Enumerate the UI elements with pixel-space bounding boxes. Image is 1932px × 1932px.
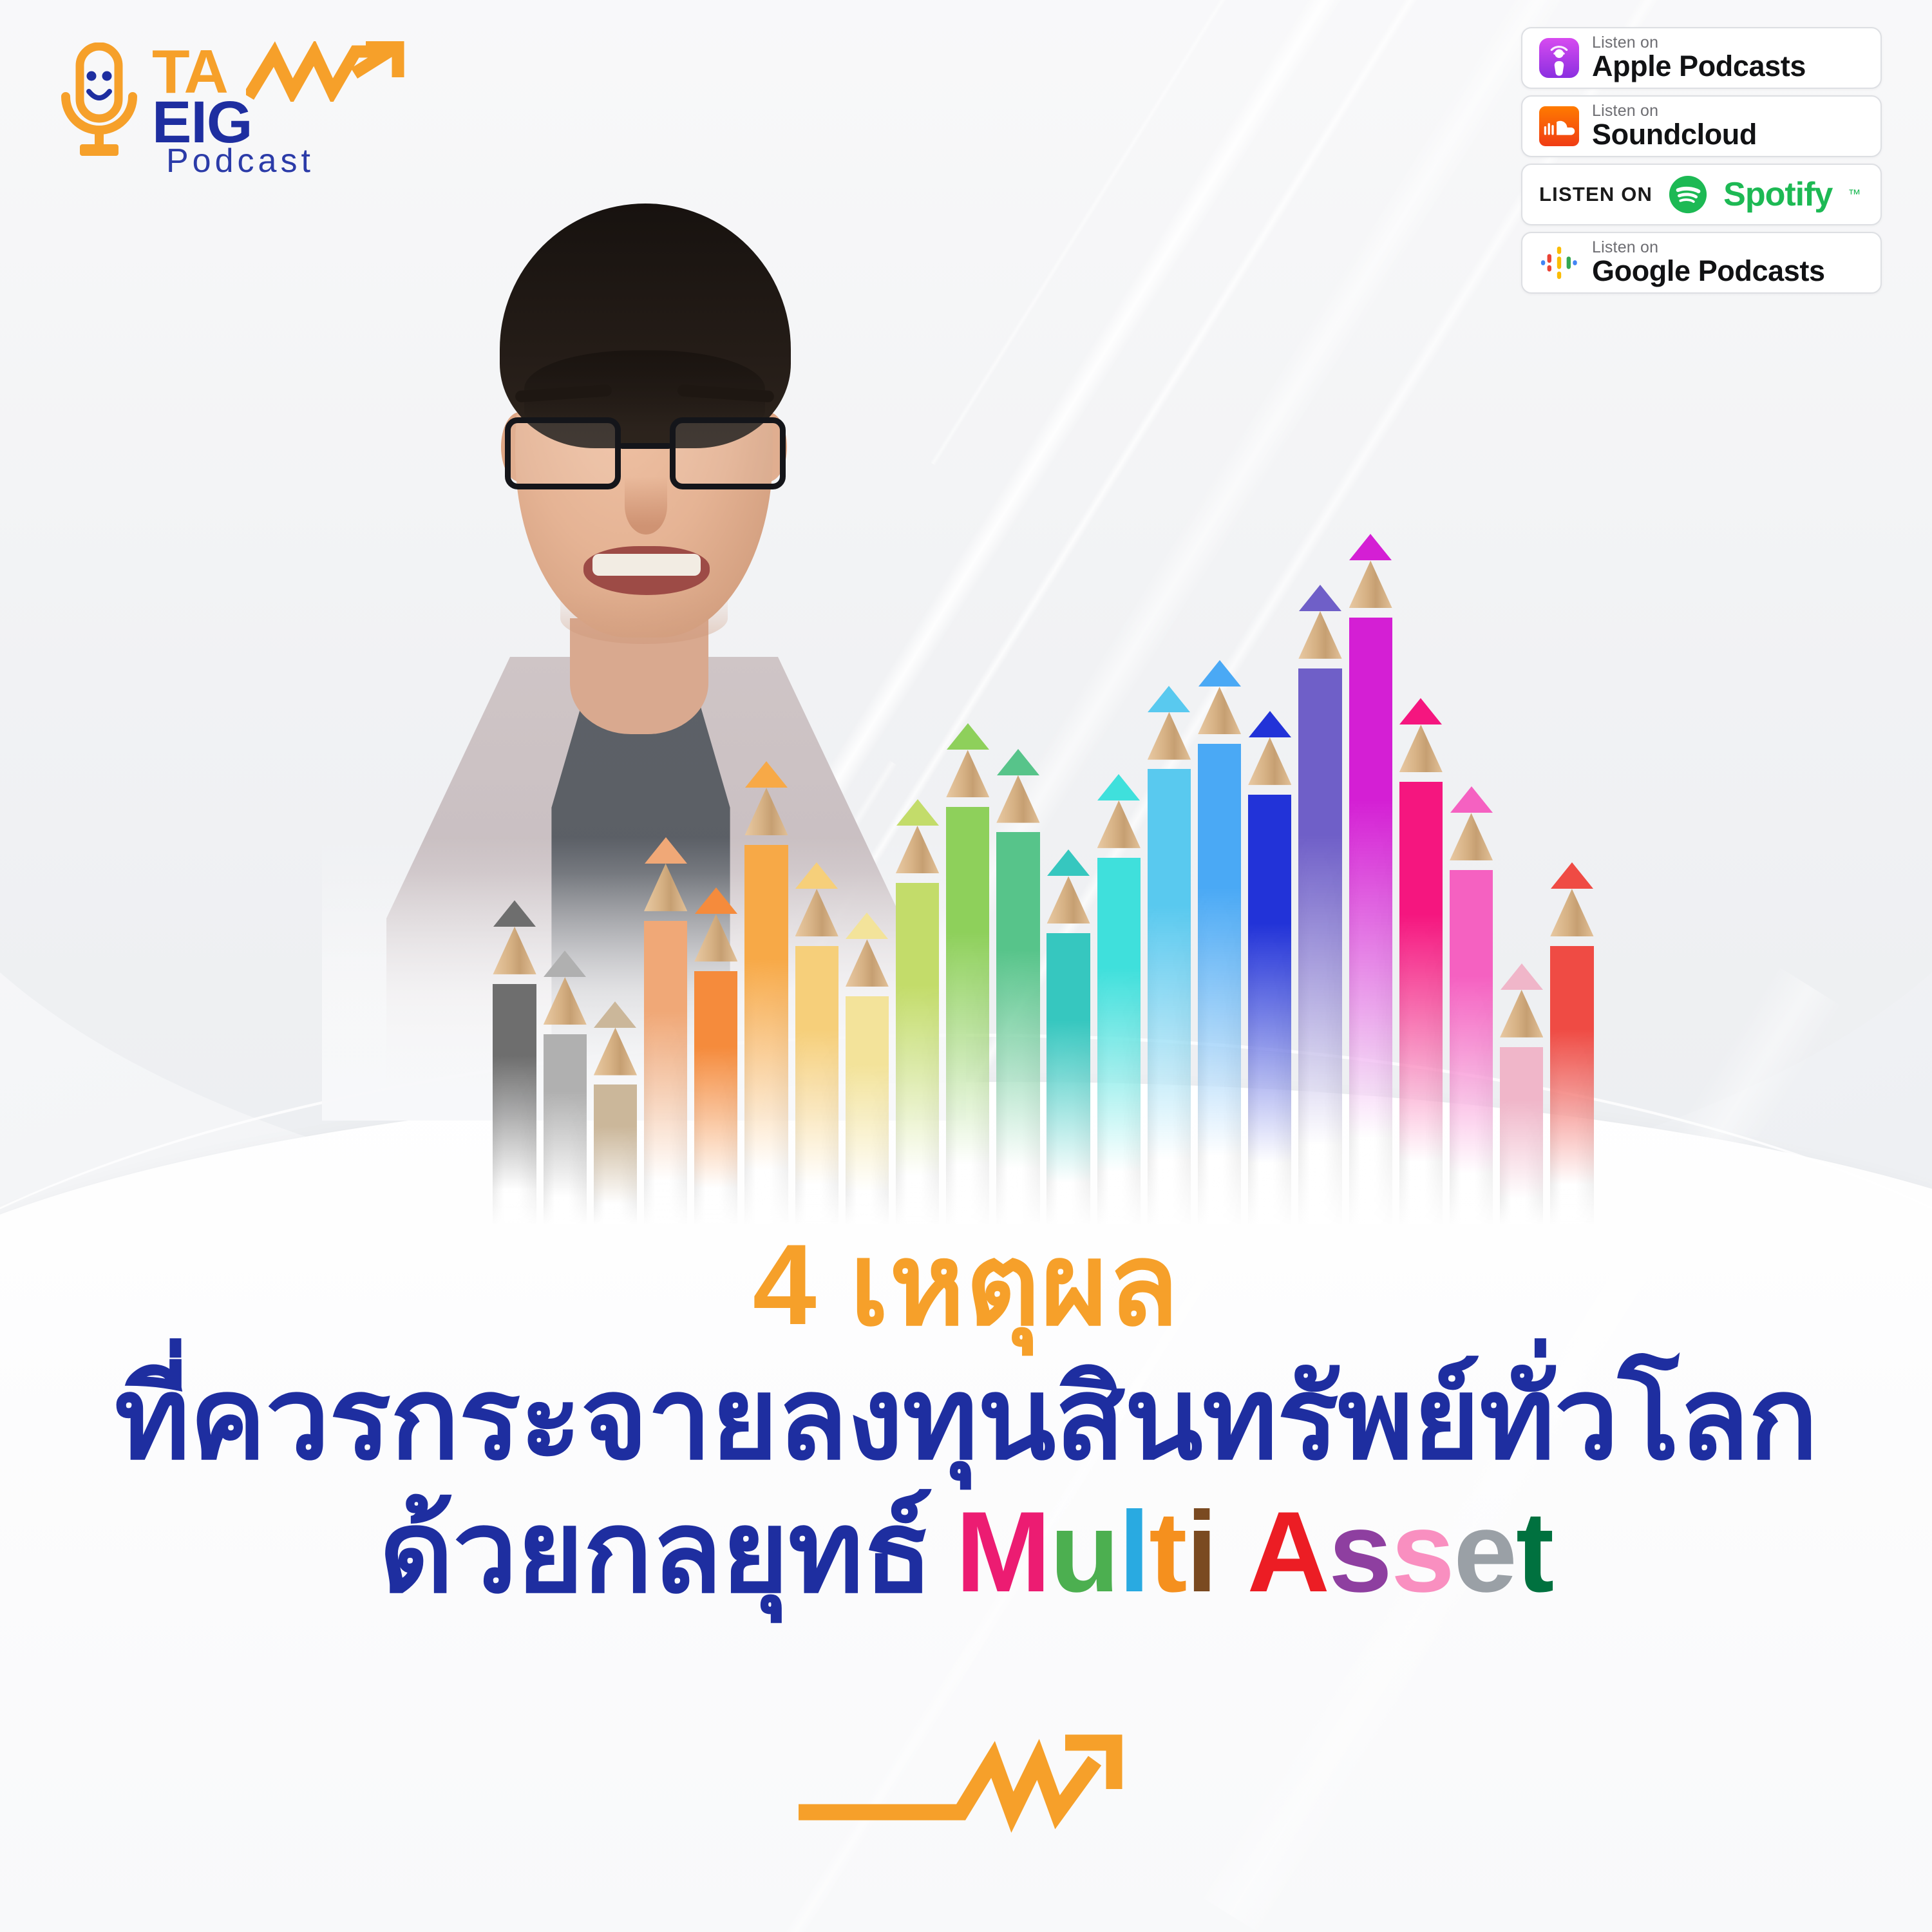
badge-spotify-big: Spotify [1723, 175, 1832, 214]
pencil-body [1450, 870, 1493, 1224]
pencil-bar [1349, 534, 1392, 1224]
pencil-tip [493, 900, 536, 927]
pencil-wood [1399, 724, 1443, 772]
pencil-body [594, 1084, 637, 1224]
pencil-bar [1046, 849, 1090, 1224]
pencil-bar [1148, 686, 1191, 1224]
headline-line-1: 4 เหตุผล [0, 1217, 1932, 1352]
pencil-body [846, 996, 889, 1224]
pencil-body [946, 807, 989, 1224]
pencil-tip [1551, 862, 1593, 889]
pencil-wood [946, 750, 989, 797]
pencil-body [694, 971, 737, 1224]
pencil-bar [544, 951, 587, 1224]
pencil-wood [493, 927, 536, 974]
multi-asset-letter-3: t [1149, 1488, 1186, 1616]
pencil-tip [1450, 786, 1493, 813]
pencil-bar [795, 862, 838, 1224]
pencil-tip [594, 1001, 636, 1028]
spotify-icon [1668, 175, 1708, 214]
badge-google-text: Listen on Google Podcasts [1592, 240, 1825, 285]
pencil-body [1097, 858, 1141, 1224]
pencil-wood [1046, 876, 1090, 923]
pencil-wood [1550, 889, 1593, 936]
pencil-wood [1349, 560, 1392, 608]
badge-apple-podcasts[interactable]: Listen on Apple Podcasts [1521, 27, 1882, 89]
pencil-body [544, 1034, 587, 1224]
pencil-collar [1198, 734, 1241, 744]
pencil-bar [1298, 585, 1341, 1224]
pencil-tip [1249, 711, 1291, 737]
listen-on-badges: Listen on Apple Podcasts Listen on Sound… [1521, 27, 1882, 294]
headline-line-3-thai: ด้วยกลยุทธ์ [379, 1486, 933, 1618]
pencil-bar [1097, 774, 1141, 1224]
pencil-wood [594, 1028, 637, 1075]
pencil-collar [594, 1075, 637, 1085]
pencil-collar [896, 873, 939, 883]
pencil-collar [1046, 923, 1090, 933]
headline-line-3: ด้วยกลยุทธ์ Multi Asset [0, 1486, 1932, 1618]
pencil-body [795, 946, 838, 1224]
pencil-tip [1097, 774, 1140, 800]
pencil-wood [644, 864, 687, 911]
smiling-microphone-icon [57, 43, 142, 160]
pencil-tip [1299, 585, 1341, 611]
pencil-body [1046, 933, 1090, 1224]
pencil-tip [645, 837, 687, 864]
pencil-bar [1450, 786, 1493, 1224]
pencil-collar [795, 936, 838, 946]
multi-asset-letter-5 [1217, 1488, 1247, 1616]
pencil-body [1399, 782, 1443, 1224]
logo-wordmark: TA EIG Podcast [152, 37, 410, 166]
pencil-collar [946, 797, 989, 807]
pencil-collar [744, 835, 788, 845]
multi-asset-letter-7: s [1329, 1488, 1391, 1616]
pencil-collar [1450, 860, 1493, 870]
pencil-wood [1097, 800, 1141, 848]
pencil-bar [996, 749, 1039, 1224]
multi-asset-letter-0: M [956, 1488, 1050, 1616]
brand-logo[interactable]: TA EIG Podcast [57, 37, 417, 166]
pencil-wood [694, 914, 737, 961]
headline-block: 4 เหตุผล ที่ควรกระจายลงทุนสินทรัพย์ทั่วโ… [0, 1217, 1932, 1618]
pencil-tip [896, 799, 939, 826]
pencil-body [644, 921, 687, 1224]
pencil-tip [1501, 963, 1543, 990]
pencil-wood [1500, 990, 1543, 1037]
pencil-bar [493, 900, 536, 1224]
pencil-tip [544, 951, 586, 977]
multi-asset-letter-8: s [1391, 1488, 1454, 1616]
pencil-body [1298, 668, 1341, 1224]
pencil-tip [1198, 660, 1241, 687]
pencil-bar [946, 723, 989, 1224]
pencil-bar [694, 887, 737, 1224]
zigzag-growth-arrow-icon [246, 41, 408, 102]
badge-google-big: Google Podcasts [1592, 256, 1825, 286]
pencil-tip [695, 887, 737, 914]
footer-zigzag-growth-arrow-icon [792, 1732, 1140, 1842]
pencil-collar [493, 974, 536, 984]
pencil-wood [1198, 687, 1241, 734]
badge-apple-text: Listen on Apple Podcasts [1592, 35, 1806, 80]
pencil-wood [1248, 737, 1291, 785]
google-podcasts-icon [1539, 243, 1579, 283]
multi-asset-letter-10: t [1516, 1488, 1553, 1616]
badge-soundcloud-big: Soundcloud [1592, 120, 1757, 149]
pencil-wood [1298, 611, 1341, 659]
pencil-tip [947, 723, 989, 750]
pencil-bar [1248, 711, 1291, 1224]
pencil-tip [795, 862, 838, 889]
pencil-tip [846, 913, 888, 939]
pencil-collar [644, 911, 687, 921]
pencil-wood [744, 788, 788, 835]
pencil-body [744, 845, 788, 1224]
pencil-collar [1148, 760, 1191, 770]
podcast-cover-canvas: TA EIG Podcast Listen o [0, 0, 1932, 1932]
pencil-bar [594, 1001, 637, 1224]
pencil-bar [1198, 660, 1241, 1224]
pencil-collar [1298, 659, 1341, 668]
pencil-body [1349, 618, 1392, 1224]
pencil-collar [694, 961, 737, 971]
pencil-body [896, 883, 939, 1224]
pencil-bar [644, 837, 687, 1224]
badge-google-podcasts[interactable]: Listen on Google Podcasts [1521, 232, 1882, 294]
multi-asset-letter-4: i [1186, 1488, 1216, 1616]
pencil-body [1198, 744, 1241, 1224]
pencil-body [1500, 1047, 1543, 1224]
multi-asset-letter-1: u [1050, 1488, 1119, 1616]
pencil-bar [1500, 963, 1543, 1224]
pencil-collar [1248, 785, 1291, 795]
pencil-collar [846, 987, 889, 996]
pencil-wood [544, 977, 587, 1025]
badge-soundcloud-text: Listen on Soundcloud [1592, 103, 1757, 149]
pencil-collar [1399, 772, 1443, 782]
pencil-wood [896, 826, 939, 873]
badge-google-small: Listen on [1592, 240, 1825, 256]
pencil-bar [896, 799, 939, 1224]
pencil-wood [795, 889, 838, 936]
headline-line-2: ที่ควรกระจายลงทุนสินทรัพย์ทั่วโลก [0, 1352, 1932, 1485]
pencil-body [493, 984, 536, 1224]
pencil-tip [745, 761, 788, 788]
logo-podcast-text: Podcast [166, 144, 314, 178]
pencil-body [1550, 946, 1593, 1224]
pencil-bar [1550, 862, 1593, 1224]
pencil-body [996, 832, 1039, 1224]
pencil-collar [996, 823, 1039, 833]
soundcloud-icon [1539, 106, 1579, 146]
pencil-tip [1148, 686, 1190, 712]
multi-asset-letter-2: l [1119, 1488, 1149, 1616]
pencil-wood [846, 939, 889, 987]
badge-apple-big: Apple Podcasts [1592, 52, 1806, 81]
apple-podcasts-icon [1539, 38, 1579, 78]
pencil-wood [1148, 712, 1191, 760]
pencil-collar [1500, 1037, 1543, 1047]
pencil-tip [1399, 698, 1442, 724]
pencil-wood [1450, 813, 1493, 860]
pencil-wood [996, 775, 1039, 823]
multi-asset-letter-9: e [1454, 1488, 1516, 1616]
badge-apple-small: Listen on [1592, 35, 1806, 52]
registered-mark-icon: ™ [1848, 187, 1861, 202]
pencil-collar [1097, 848, 1141, 858]
badge-spotify[interactable]: LISTEN ON Spotify ™ [1521, 164, 1882, 225]
pencil-bar-chart [489, 451, 1597, 1224]
badge-soundcloud[interactable]: Listen on Soundcloud [1521, 95, 1882, 157]
badge-spotify-small: LISTEN ON [1539, 183, 1653, 206]
pencil-collar [544, 1025, 587, 1034]
pencil-tip [1349, 534, 1392, 560]
pencil-bar [744, 761, 788, 1224]
pencil-collar [1349, 608, 1392, 618]
pencil-body [1148, 769, 1191, 1224]
multi-asset-letter-6: A [1247, 1488, 1329, 1616]
headline-multi-asset: Multi Asset [956, 1486, 1553, 1618]
pencil-tip [1047, 849, 1090, 876]
pencil-body [1248, 795, 1291, 1224]
pencil-tip [997, 749, 1039, 775]
badge-soundcloud-small: Listen on [1592, 103, 1757, 120]
pencil-bar [846, 913, 889, 1224]
pencil-collar [1550, 936, 1593, 946]
pencil-bar [1399, 698, 1443, 1224]
